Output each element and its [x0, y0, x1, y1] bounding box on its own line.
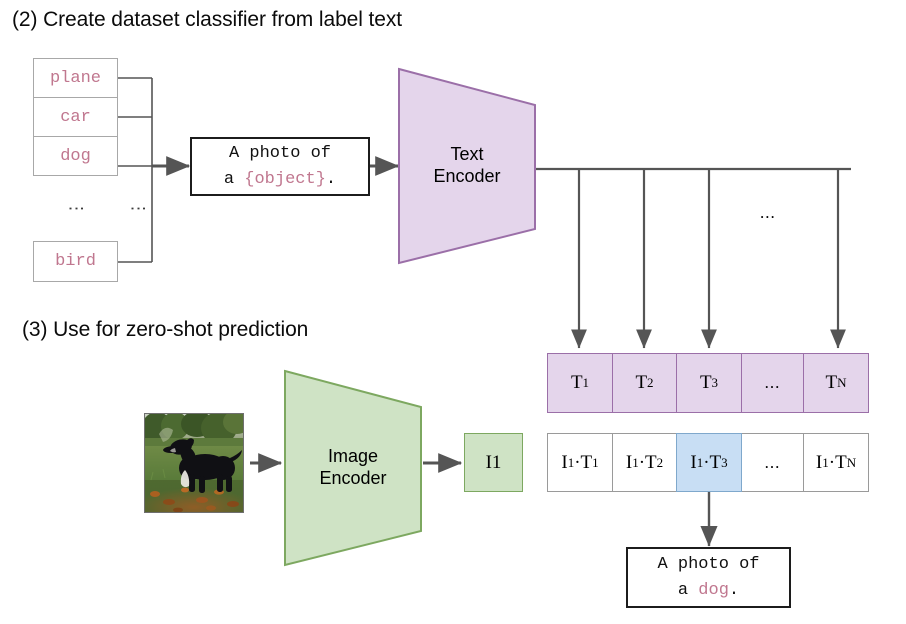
t2-base: T: [635, 372, 647, 394]
tn-sub: N: [837, 375, 846, 391]
figure-canvas: (2) Create dataset classifier from label…: [0, 0, 906, 624]
sn-t: T: [835, 452, 847, 474]
text-embedding-cell-ellipsis: ...: [741, 353, 805, 413]
prompt-object-slot: {object}: [244, 170, 326, 189]
text-encoder-block[interactable]: Text Encoder: [396, 66, 538, 266]
input-photo-image: [145, 414, 243, 512]
text-embedding-cell-3[interactable]: T3: [676, 353, 742, 413]
s3-tsub: 3: [721, 455, 728, 471]
s2-t: T: [645, 452, 657, 474]
text-embeddings-row: T1 T2 T3 ... TN: [547, 353, 869, 413]
prompt-line2-prefix: a: [224, 170, 244, 189]
prompt-template-box[interactable]: A photo of a {object}.: [190, 137, 370, 196]
prediction-line-1: A photo of: [657, 552, 759, 578]
similarity-cell-n[interactable]: I1·TN: [803, 433, 869, 492]
text-embedding-cell-n[interactable]: TN: [803, 353, 869, 413]
prompt-line2-suffix: .: [326, 170, 336, 189]
prediction-line-2: a dog.: [678, 578, 739, 604]
t1-base: T: [571, 372, 583, 394]
s-ellipsis: ...: [765, 453, 781, 473]
t3-base: T: [700, 372, 712, 394]
similarity-cell-1[interactable]: I1·T1: [547, 433, 613, 492]
t3-sub: 3: [712, 375, 719, 391]
similarity-cell-ellipsis: ...: [741, 433, 805, 492]
text-encoder-label-line2: Encoder: [396, 166, 538, 188]
image-encoder-label: Image Encoder: [282, 446, 424, 490]
prediction-class: dog: [698, 581, 729, 600]
prompt-line-1: A photo of: [229, 141, 331, 167]
input-photo[interactable]: [144, 413, 244, 513]
s1-t: T: [581, 452, 593, 474]
image-embedding-box[interactable]: I1: [464, 433, 523, 492]
tn-base: T: [826, 372, 838, 394]
sn-tsub: N: [847, 455, 856, 471]
text-embedding-cell-1[interactable]: T1: [547, 353, 613, 413]
image-encoder-block[interactable]: Image Encoder: [282, 368, 424, 568]
text-embedding-cell-2[interactable]: T2: [612, 353, 678, 413]
image-encoder-label-line1: Image: [282, 446, 424, 468]
similarity-cell-2[interactable]: I1·T2: [612, 433, 678, 492]
i1-sub: 1: [492, 452, 502, 474]
image-encoder-label-line2: Encoder: [282, 468, 424, 490]
s2-tsub: 2: [657, 455, 664, 471]
prediction-box[interactable]: A photo of a dog.: [626, 547, 791, 608]
t-ellipsis: ...: [765, 373, 781, 393]
t1-sub: 1: [583, 375, 590, 391]
text-encoder-label-line1: Text: [396, 144, 538, 166]
similarity-cell-3-selected[interactable]: I1·T3: [676, 433, 742, 492]
text-encoder-label: Text Encoder: [396, 144, 538, 188]
t2-sub: 2: [647, 375, 654, 391]
s3-t: T: [710, 452, 722, 474]
bus-ellipsis: ...: [760, 203, 776, 223]
prompt-line-2: a {object}.: [224, 167, 336, 193]
similarity-row: I1·T1 I1·T2 I1·T3 ... I1·TN: [547, 433, 869, 492]
prediction-line2-prefix: a: [678, 581, 698, 600]
s1-tsub: 1: [592, 455, 599, 471]
prediction-line2-suffix: .: [729, 581, 739, 600]
